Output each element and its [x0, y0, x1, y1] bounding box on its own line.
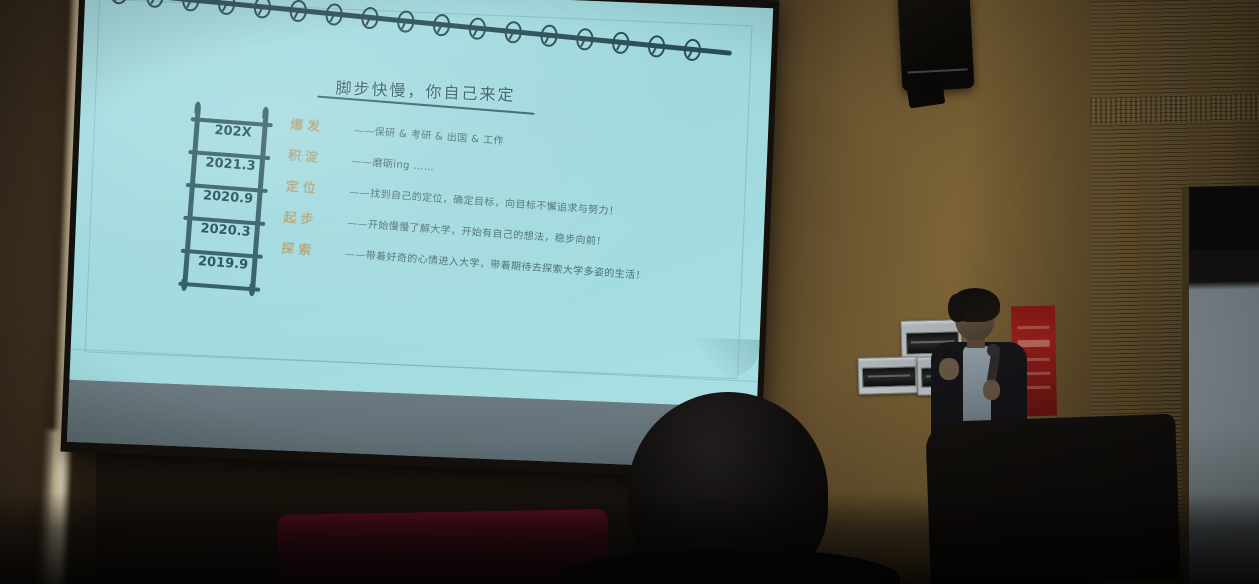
curtain-ring-icon	[683, 38, 702, 62]
presentation-slide: 脚步快慢，你自己来定 202X2021.32020.92020.32019.9 …	[69, 0, 773, 408]
presenter-hair-side	[948, 294, 964, 322]
curtain-ring-icon	[253, 0, 272, 19]
timeline-row-keyword: 爆发	[290, 114, 325, 135]
ladder-graphic: 202X2021.32020.92020.32019.9	[178, 109, 277, 289]
presenter-hand-right	[983, 380, 1000, 400]
curtain-ring-icon	[540, 24, 559, 48]
curtain-ring-icon	[110, 0, 129, 5]
timeline-rows: 爆发——保研 & 考研 & 出国 & 工作积淀——磨砺ing ……定位——找到自…	[280, 114, 730, 300]
curtain-ring-icon	[575, 27, 594, 51]
timeline-row-keyword: 探索	[281, 237, 316, 258]
curtain-ring-icon	[289, 0, 308, 23]
curtain-ring-icon	[217, 0, 236, 16]
door-transom	[1189, 188, 1259, 250]
timeline-row-keyword: 定位	[285, 176, 320, 197]
screenshot-root: 脚步快慢，你自己来定 202X2021.32020.92020.32019.9 …	[0, 0, 1259, 584]
projector-screen-surface: 脚步快慢，你自己来定 202X2021.32020.92020.32019.9 …	[67, 0, 773, 470]
microphone-head-icon	[987, 344, 1000, 357]
curtain-rod-icon	[105, 0, 732, 56]
curtain-ring-icon	[432, 13, 451, 37]
curtain-ring-icon	[611, 31, 630, 55]
curtain-ring-icon	[468, 17, 487, 41]
electrical-panel	[858, 356, 919, 395]
curtain-rings-group	[107, 0, 734, 31]
curtain-ring-icon	[647, 35, 666, 59]
timeline-row-keyword: 积淀	[287, 145, 322, 166]
pa-speaker	[898, 0, 975, 92]
timeline-row-keyword: 起步	[283, 207, 318, 228]
auditorium-seat	[277, 509, 608, 584]
wall-trim-band	[1090, 94, 1259, 124]
curtain-ring-icon	[325, 3, 344, 27]
page-curl-corner	[682, 337, 760, 386]
lectern	[925, 414, 1181, 584]
curtain-ring-icon	[360, 6, 379, 30]
curtain-ring-icon	[145, 0, 164, 9]
presenter-hand-left	[939, 358, 959, 380]
curtain-ring-icon	[181, 0, 200, 12]
timeline-row-description: ——磨砺ing ……	[351, 152, 435, 173]
curtain-ring-icon	[504, 20, 523, 44]
curtain-ring-icon	[396, 10, 415, 34]
